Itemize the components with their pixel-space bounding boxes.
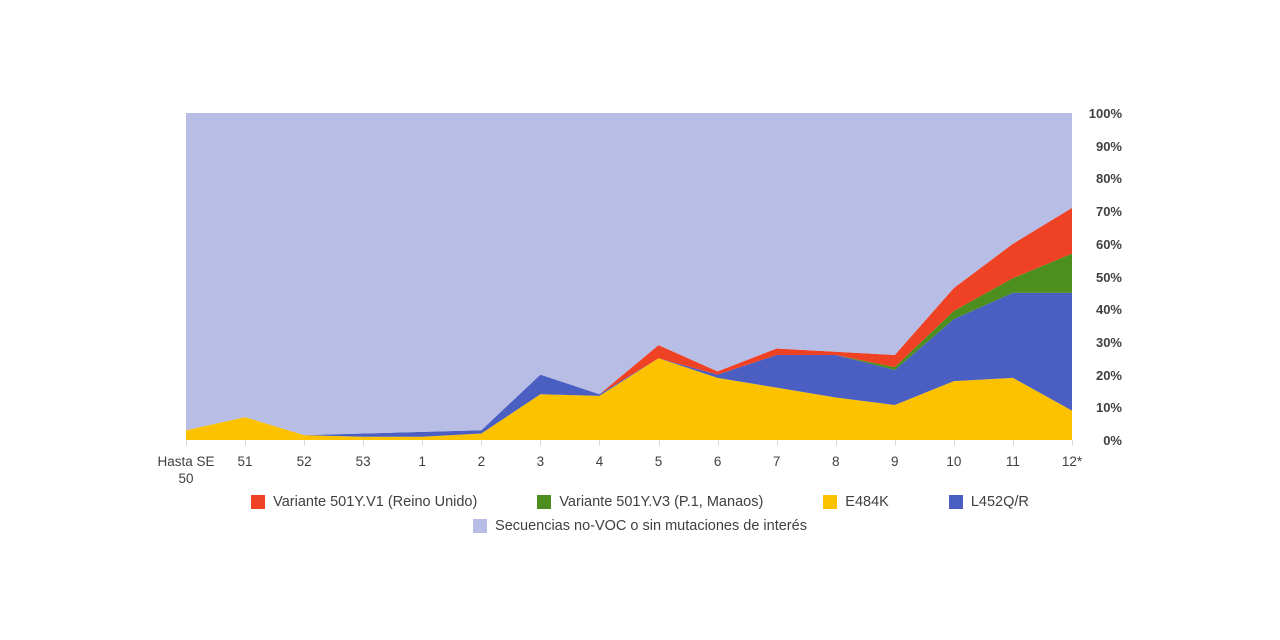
legend-swatch-variante-501y-v1 [251,495,265,509]
chart-legend: Variante 501Y.V1 (Reino Unido)Variante 5… [0,490,1280,538]
x-axis-tickmark [718,440,719,446]
x-axis-tickmark [186,440,187,446]
x-axis-tickmark [954,440,955,446]
legend-item-label: Variante 501Y.V1 (Reino Unido) [273,494,477,510]
y-axis-tick-label: 100% [1078,107,1122,120]
x-axis-tickmark [540,440,541,446]
legend-swatch-variante-501y-v3 [537,495,551,509]
legend-swatch-no-voc [473,519,487,533]
legend-item-label: Secuencias no-VOC o sin mutaciones de in… [495,518,807,534]
plot-area [186,113,1072,440]
y-axis-tick-label: 80% [1078,172,1122,185]
legend-item-label: L452Q/R [971,494,1029,510]
y-axis-tick-label: 30% [1078,336,1122,349]
x-axis-tickmark [363,440,364,446]
legend-row: Variante 501Y.V1 (Reino Unido)Variante 5… [0,490,1280,514]
x-axis-tickmark [777,440,778,446]
legend-swatch-l452qr [949,495,963,509]
y-axis-tick-label: 60% [1078,238,1122,251]
x-axis-tickmark [245,440,246,446]
legend-item[interactable]: Variante 501Y.V1 (Reino Unido) [251,494,477,510]
x-axis: Hasta SE50515253123456789101112* [0,440,1280,490]
x-axis-tick-label-line1: 12* [1032,453,1112,470]
y-axis-tick-label: 20% [1078,369,1122,382]
y-axis: 0%10%20%30%40%50%60%70%80%90%100% [1078,0,1148,640]
x-axis-tickmark [304,440,305,446]
stacked-area-chart: 0%10%20%30%40%50%60%70%80%90%100% Hasta … [0,0,1280,640]
legend-item[interactable]: L452Q/R [949,494,1029,510]
x-axis-tickmark [836,440,837,446]
y-axis-tick-label: 40% [1078,303,1122,316]
x-axis-tickmark [481,440,482,446]
legend-item[interactable]: E484K [823,494,889,510]
x-axis-tickmark [1072,440,1073,446]
x-axis-tickmark [1013,440,1014,446]
legend-swatch-e484k [823,495,837,509]
area-chart-svg [186,113,1072,440]
legend-item[interactable]: Secuencias no-VOC o sin mutaciones de in… [473,518,807,534]
y-axis-tick-label: 50% [1078,271,1122,284]
legend-item-label: E484K [845,494,889,510]
x-axis-tick-label-line2: 50 [146,470,226,487]
x-axis-tickmark [422,440,423,446]
y-axis-tick-label: 90% [1078,140,1122,153]
legend-row: Secuencias no-VOC o sin mutaciones de in… [0,514,1280,538]
y-axis-tick-label: 10% [1078,401,1122,414]
legend-item-label: Variante 501Y.V3 (P.1, Manaos) [559,494,763,510]
x-axis-tickmark [659,440,660,446]
x-axis-tick-label: 12* [1032,453,1112,470]
x-axis-tickmark [895,440,896,446]
y-axis-tick-label: 70% [1078,205,1122,218]
x-axis-tickmark [599,440,600,446]
legend-item[interactable]: Variante 501Y.V3 (P.1, Manaos) [537,494,763,510]
